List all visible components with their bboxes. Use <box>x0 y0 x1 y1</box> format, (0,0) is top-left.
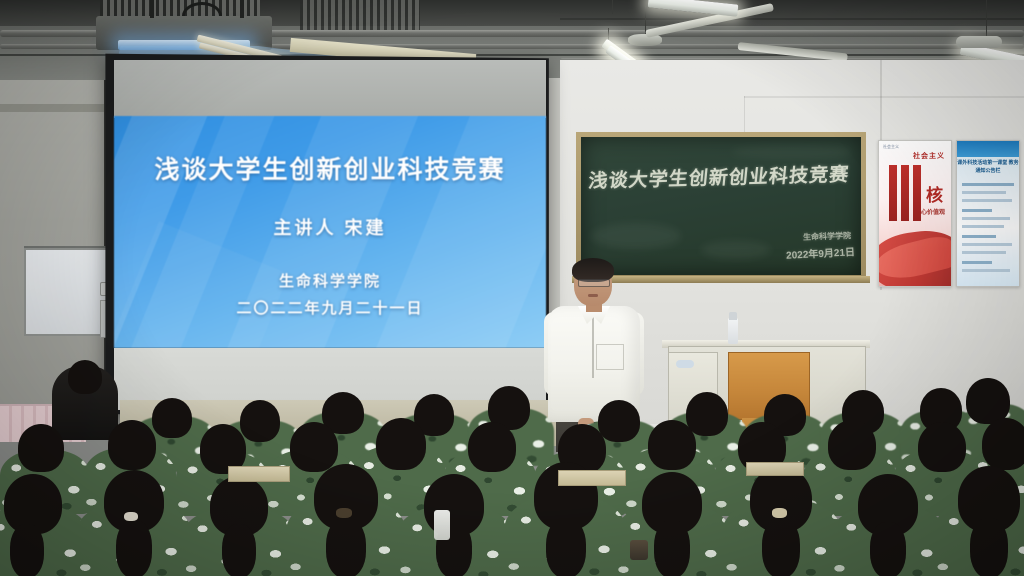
ponytail <box>10 524 44 576</box>
poster-value-column-2 <box>901 165 909 221</box>
ceiling-light-housing <box>956 36 1002 48</box>
head <box>376 418 426 470</box>
head <box>290 422 338 472</box>
hair-tie <box>124 512 138 521</box>
ponytail <box>116 520 152 576</box>
notice-row-1 <box>962 183 1014 186</box>
presenter-shirt-pocket <box>596 344 624 370</box>
blackboard-chalk-date: 2022年9月21日 <box>786 243 856 262</box>
chalk-smudge-3 <box>731 145 851 159</box>
notice-row-5 <box>962 217 1010 220</box>
ponytail <box>546 518 586 576</box>
left-wall-band <box>0 104 120 112</box>
ceiling-fan-hub <box>628 34 662 46</box>
notice-board-poster: 课外科技活动第一课堂 教务通知公告栏 <box>956 140 1020 287</box>
ceiling-wire-2 <box>560 18 1024 20</box>
head <box>240 400 280 442</box>
notice-poster-header <box>957 141 1019 157</box>
head <box>108 420 156 470</box>
ponytail <box>326 518 366 576</box>
projector-mount-bracket-2 <box>240 0 244 18</box>
presenter-mouth <box>588 294 598 297</box>
head <box>982 418 1024 470</box>
projector-mount-bracket <box>150 0 154 18</box>
poster-value-column-1 <box>889 165 897 221</box>
poster-red-headline: 社会主义 <box>913 151 945 161</box>
ponytail <box>870 522 906 576</box>
ponytail <box>222 524 256 576</box>
ceiling-grille-2 <box>300 0 420 30</box>
socialist-core-values-poster: 社会主义 社会主义 核 心价值观 <box>878 140 952 287</box>
cup <box>630 540 648 560</box>
notice-row-9 <box>962 251 1006 254</box>
projection-screen-slide: 浅谈大学生创新创业科技竞赛 主讲人 宋建 生命科学学院 二〇二二年九月二十一日 <box>114 116 546 348</box>
ponytail <box>970 518 1008 576</box>
desk-edge <box>746 462 804 476</box>
notice-row-6 <box>962 225 1004 228</box>
cabinet-badge <box>676 360 694 368</box>
head <box>468 422 516 472</box>
head <box>648 420 696 470</box>
head <box>152 398 192 438</box>
head <box>598 400 640 442</box>
slide-speaker: 主讲人 宋建 <box>114 214 546 240</box>
ponytail <box>762 518 800 576</box>
wall-panel-seam-2 <box>744 96 1024 98</box>
head <box>18 424 64 472</box>
chalk-smudge-1 <box>591 223 681 249</box>
chalk-smudge-2 <box>701 241 771 259</box>
classroom-photo: 浅谈大学生创新创业科技竞赛 主讲人 宋建 生命科学学院 二〇二二年九月二十一日 … <box>0 0 1024 576</box>
poster-red-subline: 心价值观 <box>921 207 945 216</box>
ponytail <box>654 520 690 576</box>
notice-row-8 <box>962 243 1012 246</box>
poster-value-column-3 <box>913 165 921 221</box>
notice-row-11 <box>962 269 1010 272</box>
projection-screen-top-band <box>114 60 546 118</box>
poster-red-big-char: 核 <box>926 181 943 206</box>
notice-row-10 <box>962 261 992 264</box>
notice-row-2 <box>962 191 1006 194</box>
hand-sanitizer-bottle <box>728 318 738 344</box>
head <box>918 422 966 472</box>
presenter-glasses <box>578 279 610 287</box>
head <box>828 420 876 470</box>
slide-organization: 生命科学学院 <box>114 270 546 291</box>
notice-poster-title: 课外科技活动第一课堂 教务通知公告栏 <box>957 160 1019 175</box>
blackboard-chalk-title: 浅谈大学生创新创业科技竞赛 <box>587 160 850 194</box>
blackboard-chalk-ledge <box>572 276 870 283</box>
hand-sanitizer-pump <box>729 312 737 320</box>
poster-logo: 社会主义 <box>883 144 899 150</box>
notice-row-3 <box>962 199 1012 202</box>
notice-row-4 <box>962 209 992 212</box>
blackboard-surface: 浅谈大学生创新创业科技竞赛 生命科学学院 2022年9月21日 <box>581 137 861 275</box>
head <box>68 360 102 394</box>
hair-tie <box>336 508 352 518</box>
desk-edge <box>558 470 626 486</box>
slide-date: 二〇二二年九月二十一日 <box>114 297 546 318</box>
water-bottle <box>434 510 450 540</box>
notice-row-7 <box>962 235 996 238</box>
blackboard-chalk-org: 生命科学学院 <box>803 230 851 243</box>
head <box>686 392 728 436</box>
hair-tie <box>772 508 787 518</box>
light-hanger-1 <box>612 0 613 14</box>
slide-title: 浅谈大学生创新创业科技竞赛 <box>114 150 546 186</box>
slide-text-block: 浅谈大学生创新创业科技竞赛 主讲人 宋建 生命科学学院 二〇二二年九月二十一日 <box>114 150 546 318</box>
blackboard: 浅谈大学生创新创业科技竞赛 生命科学学院 2022年9月21日 <box>576 132 866 280</box>
desk-edge <box>228 466 290 482</box>
presenter-shirt-placket <box>592 316 594 378</box>
